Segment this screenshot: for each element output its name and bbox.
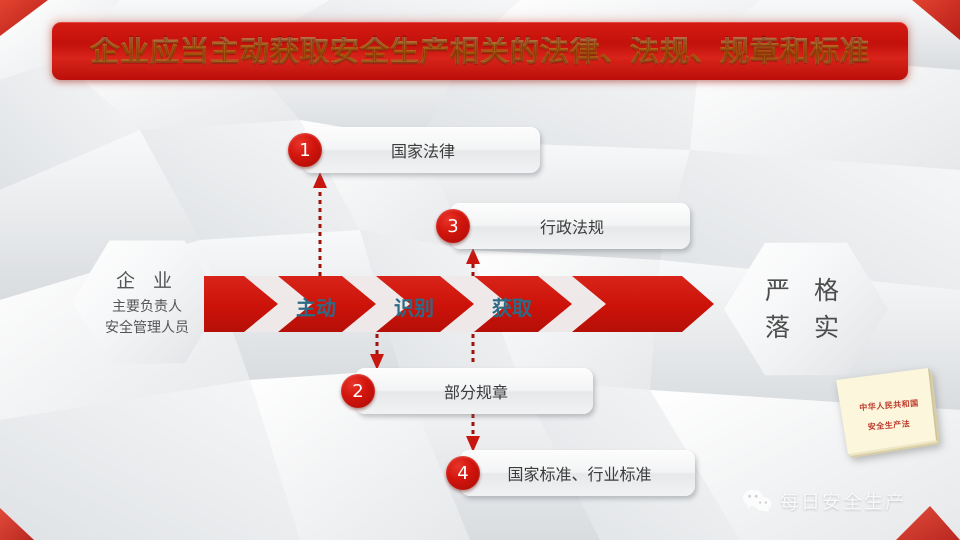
callout-number-4: 4 <box>446 456 480 490</box>
watermark: 每日安全生产 <box>742 487 906 514</box>
process-step-3: 获取 <box>492 292 532 321</box>
implementation-line2: 落 实 <box>765 309 847 347</box>
callout-label-2: 部分规章 <box>355 379 593 403</box>
callout-number-2: 2 <box>341 374 375 408</box>
callout-number-3: 3 <box>436 209 470 243</box>
enterprise-line2: 安全管理人员 <box>105 318 189 338</box>
wechat-icon <box>742 488 772 514</box>
callout-label-3: 行政法规 <box>450 214 690 238</box>
slide-canvas: 企业应当主动获取安全生产相关的法律、法规、规章和标准 企 业 主要负责人 安全管… <box>0 0 960 540</box>
enterprise-heading: 企 业 <box>116 266 178 293</box>
process-step-1: 主动 <box>296 292 336 321</box>
enterprise-line1: 主要负责人 <box>112 297 182 317</box>
process-step-2: 识别 <box>394 292 434 321</box>
book-icon <box>836 368 942 460</box>
callout-box-2[interactable]: 2 部分规章 <box>355 368 593 414</box>
law-book-image: 中华人民共和国 安全生产法 <box>836 368 942 460</box>
callout-label-4: 国家标准、行业标准 <box>460 461 695 485</box>
watermark-text: 每日安全生产 <box>780 487 906 514</box>
callout-box-3[interactable]: 3 行政法规 <box>450 203 690 249</box>
callout-box-1[interactable]: 1 国家法律 <box>302 127 540 173</box>
process-arrow-chain <box>204 276 714 332</box>
callout-box-4[interactable]: 4 国家标准、行业标准 <box>460 450 695 496</box>
implementation-line1: 严 格 <box>765 272 847 310</box>
callout-label-1: 国家法律 <box>302 138 540 162</box>
callout-number-1: 1 <box>288 133 322 167</box>
